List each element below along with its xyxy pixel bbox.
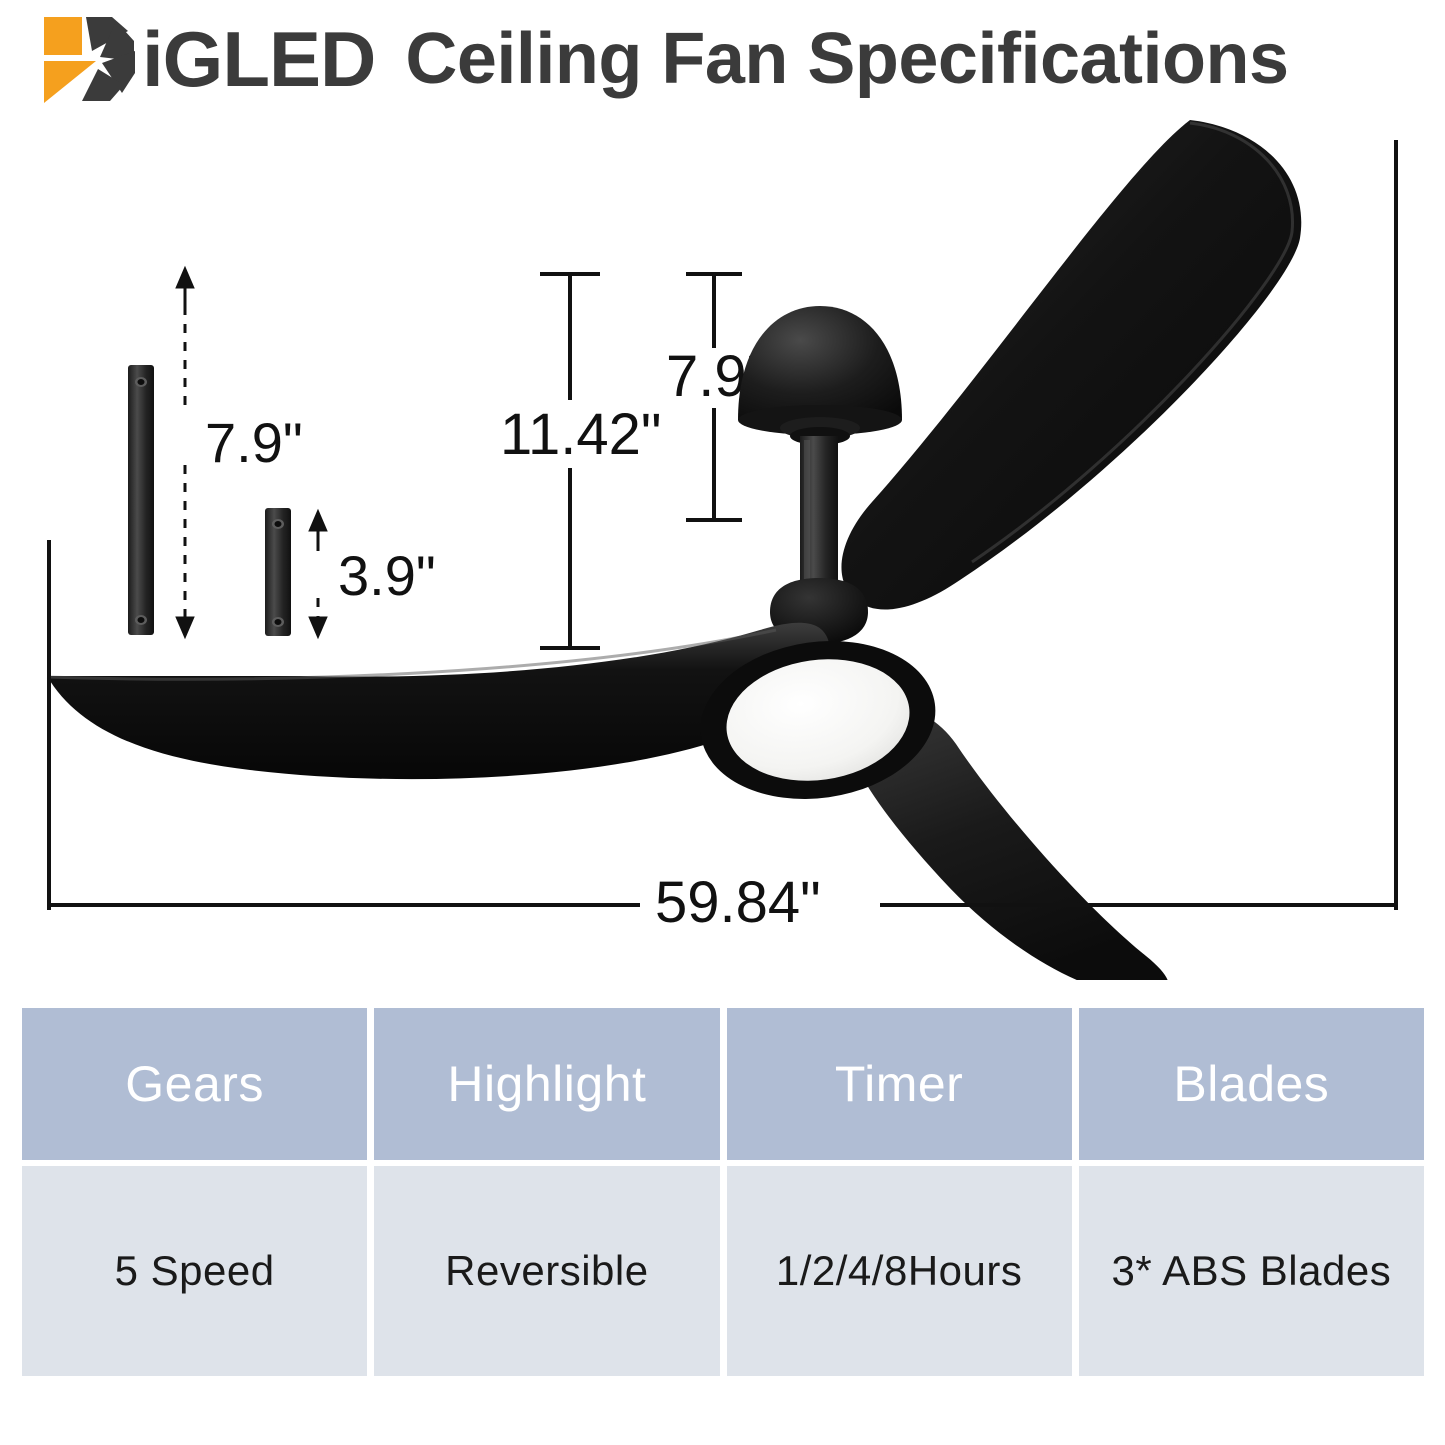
- brand-wordmark: iGLED: [142, 20, 375, 98]
- fan-blade-upper-right: [841, 120, 1301, 610]
- ceiling-canopy: [738, 306, 902, 445]
- page-title: Ceiling Fan Specifications: [405, 23, 1288, 95]
- dimension-label-blade-span: 59.84": [655, 870, 821, 935]
- cell-blades-value: 3* ABS Blades: [1079, 1166, 1424, 1376]
- product-diagram: 7.9" 3.9" 11.42" 7.9": [0, 110, 1445, 980]
- downrod-short: [265, 508, 291, 636]
- dimension-label-overall-drop: 11.42": [500, 402, 661, 467]
- downrod-long: [128, 365, 154, 635]
- ceiling-fan-illustration: 7.9" 3.9" 11.42" 7.9": [0, 110, 1445, 980]
- column-header-blades: Blades: [1079, 1008, 1424, 1160]
- page-header: iGLED Ceiling Fan Specifications: [0, 0, 1445, 118]
- table-row: 5 Speed Reversible 1/2/4/8Hours 3* ABS B…: [22, 1166, 1424, 1376]
- specifications-table: Gears Highlight Timer Blades 5 Speed Rev…: [22, 1008, 1424, 1376]
- aperture-d-logo-icon: [36, 11, 144, 107]
- dimension-downrod-long-length: [176, 267, 194, 638]
- column-header-timer: Timer: [727, 1008, 1079, 1160]
- cell-gears-value: 5 Speed: [22, 1166, 374, 1376]
- cell-highlight-value: Reversible: [374, 1166, 726, 1376]
- column-header-highlight: Highlight: [374, 1008, 726, 1160]
- dimension-label-downrod-long: 7.9": [205, 411, 303, 474]
- cell-timer-value: 1/2/4/8Hours: [727, 1166, 1079, 1376]
- dimension-label-downrod-short: 3.9": [338, 544, 436, 607]
- dimension-downrod-short-length: [309, 510, 327, 638]
- table-header-row: Gears Highlight Timer Blades: [22, 1008, 1424, 1160]
- column-header-gears: Gears: [22, 1008, 374, 1160]
